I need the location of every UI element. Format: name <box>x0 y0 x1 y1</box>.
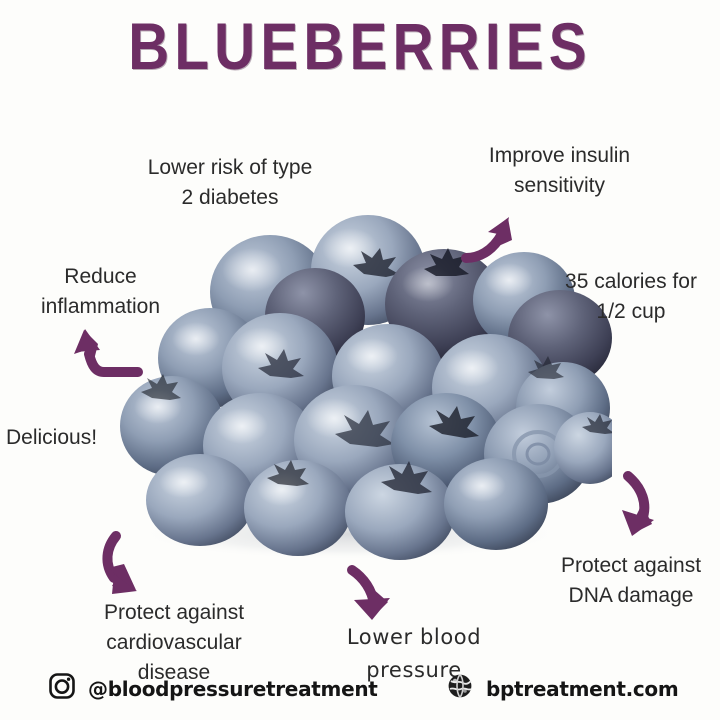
instagram-link[interactable]: @bloodpressuretreatment <box>48 672 378 705</box>
website-url: bptreatment.com <box>486 677 678 701</box>
fact-dna-damage: Protect against DNA damage <box>541 551 720 611</box>
fact-calories: 35 calories for 1/2 cup <box>545 267 717 327</box>
fact-reduce-inflammation: Reduce inflammation <box>8 262 193 322</box>
fact-type-2-diabetes: Lower risk of type 2 diabetes <box>110 153 350 213</box>
blueberry-pile-image <box>92 208 612 560</box>
blood-pressure-arrow-icon <box>336 562 406 628</box>
dna-arrow-icon <box>608 468 672 542</box>
globe-icon <box>446 672 474 705</box>
page-title: BLUEBERRIES <box>50 8 669 84</box>
insulin-arrow-icon <box>462 208 534 266</box>
inflammation-arrow-icon <box>62 322 142 384</box>
fact-insulin-sensitivity: Improve insulin sensitivity <box>452 141 667 201</box>
blueberries-infographic: BLUEBERRIES <box>0 0 720 720</box>
instagram-handle: @bloodpressuretreatment <box>88 677 378 701</box>
fact-delicious: Delicious! <box>6 423 146 453</box>
instagram-icon <box>48 672 76 705</box>
footer: @bloodpressuretreatment bptreatment.com <box>0 668 720 714</box>
cardiovascular-arrow-icon <box>90 528 156 600</box>
website-link[interactable]: bptreatment.com <box>446 672 678 705</box>
